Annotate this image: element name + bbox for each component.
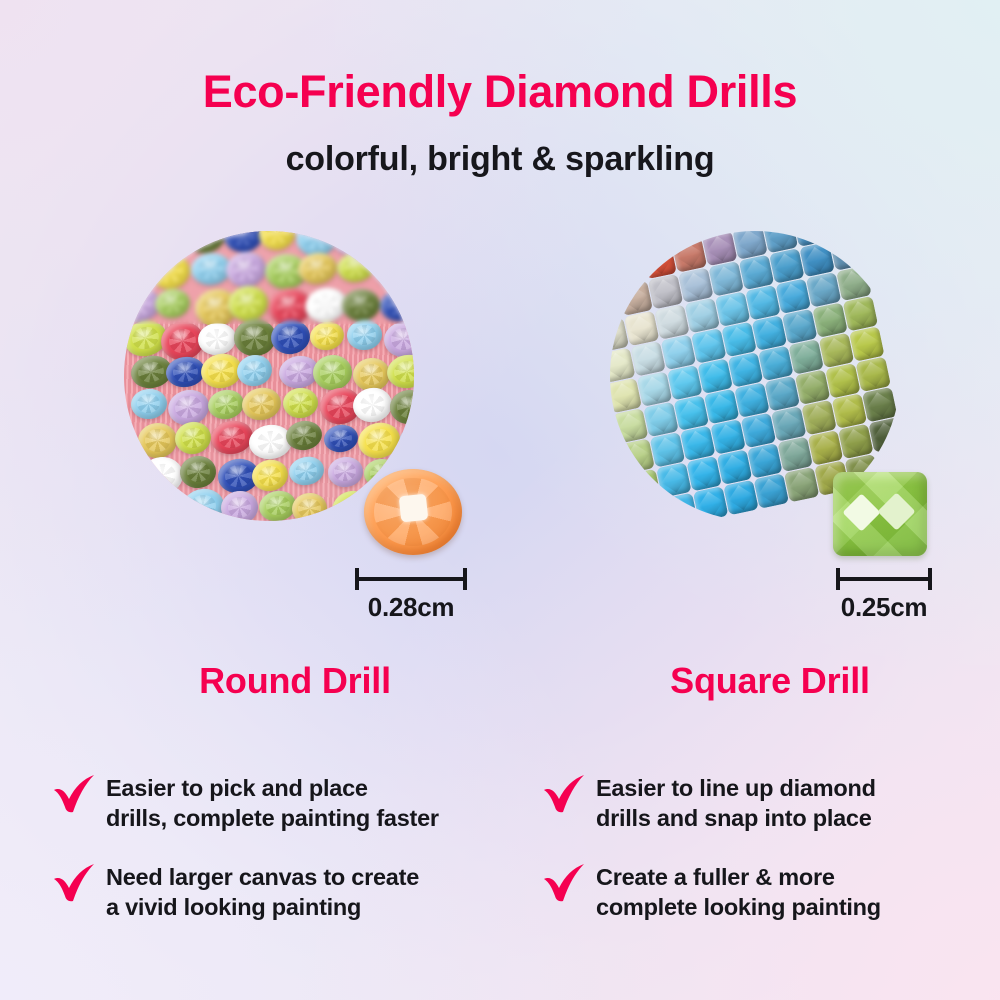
round-drill-features: Easier to pick and place drills, complet…: [52, 772, 522, 950]
square-drill-measurement: 0.25cm: [836, 568, 932, 623]
round-drill-measurement: 0.28cm: [355, 568, 467, 623]
feature-line: Need larger canvas to create: [106, 862, 419, 892]
feature-text: Easier to pick and place drills, complet…: [106, 772, 439, 833]
feature-item: Create a fuller & more complete looking …: [542, 861, 1000, 922]
feature-line: Easier to pick and place: [106, 773, 439, 803]
round-drill-label: Round Drill: [145, 660, 445, 702]
feature-item: Easier to pick and place drills, complet…: [52, 772, 522, 833]
measure-bar: [836, 568, 932, 588]
check-icon: [52, 774, 98, 818]
check-icon: [542, 774, 588, 818]
feature-item: Need larger canvas to create a vivid loo…: [52, 861, 522, 922]
round-drill-photo: [124, 231, 414, 521]
measure-line: [836, 577, 932, 581]
infographic-content: Eco-Friendly Diamond Drills colorful, br…: [0, 0, 1000, 1000]
measure-bar: [355, 568, 467, 588]
feature-line: Create a fuller & more: [596, 862, 881, 892]
feature-line: Easier to line up diamond: [596, 773, 876, 803]
feature-text: Create a fuller & more complete looking …: [596, 861, 881, 922]
measure-cap-right: [463, 568, 467, 590]
square-drill-features: Easier to line up diamond drills and sna…: [542, 772, 1000, 950]
feature-line: a vivid looking painting: [106, 892, 419, 922]
drill-glint: [877, 492, 915, 530]
check-icon: [52, 863, 98, 907]
measure-line: [355, 577, 467, 581]
page-subtitle: colorful, bright & sparkling: [0, 140, 1000, 179]
measure-label: 0.28cm: [355, 592, 467, 623]
feature-line: drills and snap into place: [596, 803, 876, 833]
feature-line: complete looking painting: [596, 892, 881, 922]
page-title: Eco-Friendly Diamond Drills: [0, 66, 1000, 118]
feature-line: drills, complete painting faster: [106, 803, 439, 833]
measure-cap-right: [928, 568, 932, 590]
green-square-drill-sample: [833, 472, 927, 556]
orange-round-drill-sample: [364, 469, 462, 555]
measure-label: 0.25cm: [836, 592, 932, 623]
drill-glint: [399, 493, 429, 522]
feature-item: Easier to line up diamond drills and sna…: [542, 772, 1000, 833]
drill-glint: [842, 493, 880, 531]
check-icon: [542, 863, 588, 907]
feature-text: Easier to line up diamond drills and sna…: [596, 772, 876, 833]
square-drill-label: Square Drill: [600, 660, 940, 702]
feature-text: Need larger canvas to create a vivid loo…: [106, 861, 419, 922]
